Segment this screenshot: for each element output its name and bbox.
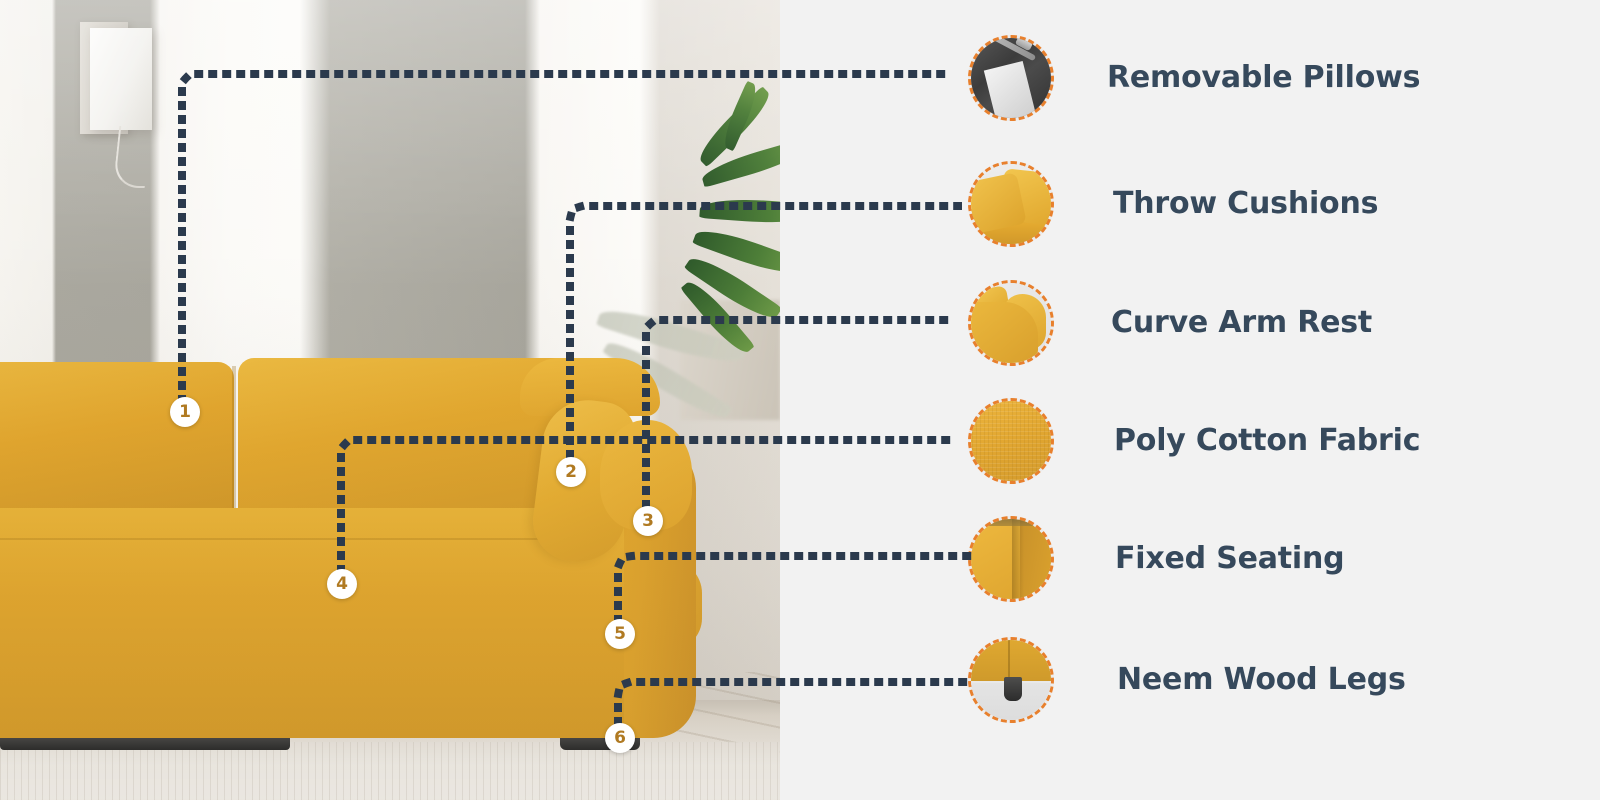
feature-thumbnail-curve-arm-rest[interactable] xyxy=(968,280,1054,366)
back-cushion-seam xyxy=(232,366,236,512)
seat-seam xyxy=(0,538,604,540)
photo-marker-4[interactable]: 4 xyxy=(327,569,357,599)
feature-label-curve-arm-rest: Curve Arm Rest xyxy=(1111,280,1372,366)
fixed-seat-thumbnail xyxy=(968,516,1054,602)
seat-base xyxy=(0,508,624,738)
feature-thumbnail-poly-cotton-fabric[interactable] xyxy=(968,398,1054,484)
infographic-stage: Removable PillowsThrow CushionsCurve Arm… xyxy=(0,0,1600,800)
curved-armrest-thumbnail xyxy=(968,280,1054,366)
feature-thumbnail-fixed-seating[interactable] xyxy=(968,516,1054,602)
feature-thumbnail-neem-wood-legs[interactable] xyxy=(968,637,1054,723)
wall-sconce-shade xyxy=(90,28,152,130)
fabric-weave-thumbnail xyxy=(968,398,1054,484)
feature-thumbnail-throw-cushions[interactable] xyxy=(968,161,1054,247)
photo-marker-1[interactable]: 1 xyxy=(170,397,200,427)
photo-marker-2[interactable]: 2 xyxy=(556,457,586,487)
back-cushion-left xyxy=(0,362,234,512)
feature-label-removable-pillows: Removable Pillows xyxy=(1107,35,1420,121)
feature-label-throw-cushions: Throw Cushions xyxy=(1113,161,1378,247)
wood-leg-thumbnail xyxy=(968,637,1054,723)
feature-thumbnail-removable-pillows[interactable] xyxy=(968,35,1054,121)
photo-marker-6[interactable]: 6 xyxy=(605,723,635,753)
photo-marker-3[interactable]: 3 xyxy=(633,506,663,536)
product-photo xyxy=(0,0,780,800)
photo-marker-5[interactable]: 5 xyxy=(605,619,635,649)
feature-label-neem-wood-legs: Neem Wood Legs xyxy=(1117,637,1406,723)
area-rug-texture xyxy=(0,742,780,800)
sofa-leg-left xyxy=(0,736,290,750)
feature-label-fixed-seating: Fixed Seating xyxy=(1115,516,1344,602)
pillow-zipper-thumbnail xyxy=(968,35,1054,121)
feature-label-poly-cotton-fabric: Poly Cotton Fabric xyxy=(1114,398,1420,484)
throw-cushion-thumbnail xyxy=(968,161,1054,247)
